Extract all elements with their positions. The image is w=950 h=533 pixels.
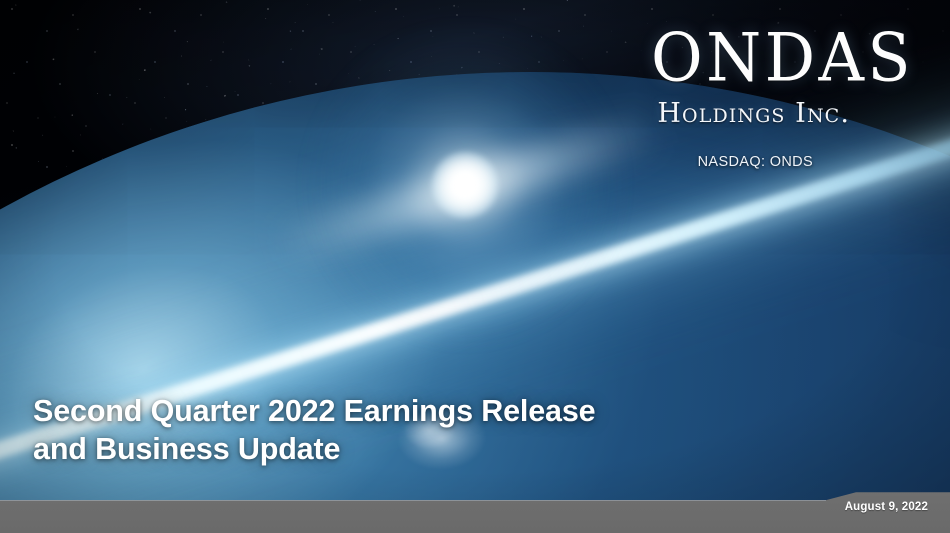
title-slide: ONDAS Holdings Inc. NASDAQ: ONDS Second … (0, 0, 950, 533)
page-title: Second Quarter 2022 Earnings Release and… (33, 392, 596, 468)
stock-ticker-label: NASDAQ: ONDS (556, 154, 916, 170)
page-title-line-2: and Business Update (33, 430, 596, 468)
page-title-line-1: Second Quarter 2022 Earnings Release (33, 392, 596, 430)
ondas-wordmark-logo: ONDAS (556, 24, 916, 91)
sun-core-flare (432, 152, 498, 218)
company-logo-block: ONDAS Holdings Inc. NASDAQ: ONDS (556, 26, 916, 170)
company-logo-subtitle: Holdings Inc. (556, 100, 916, 127)
